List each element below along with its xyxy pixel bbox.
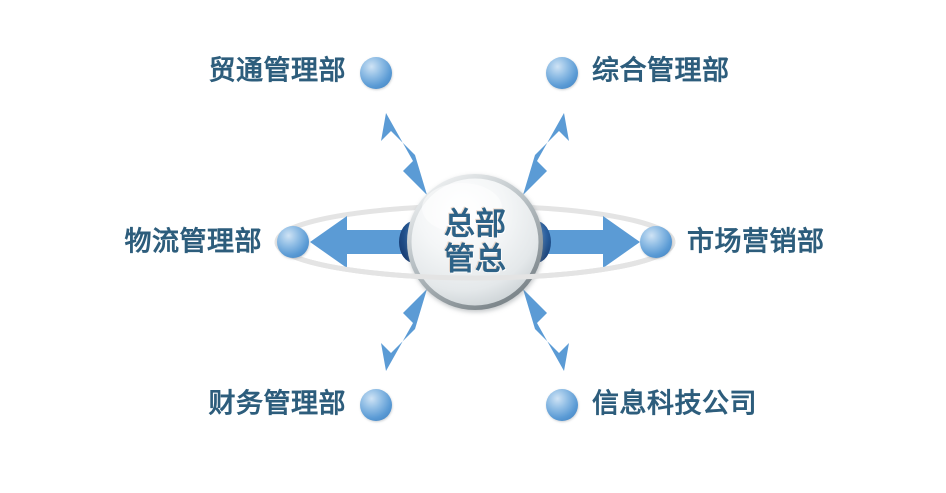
node-sphere-zonghe[interactable] xyxy=(546,57,578,89)
node-label-zonghe[interactable]: 综合管理部 xyxy=(592,58,730,85)
diagram-canvas: 总部 管总 贸通管理部 综合管理部 物流管理部 市场营销部 财务管理部 信息科技… xyxy=(0,0,946,493)
arrow-down-right xyxy=(523,289,569,371)
node-label-wuliu[interactable]: 物流管理部 xyxy=(125,229,263,256)
node-label-xinxi[interactable]: 信息科技公司 xyxy=(592,391,757,418)
node-sphere-caiwu[interactable] xyxy=(360,389,392,421)
node-label-shichang[interactable]: 市场营销部 xyxy=(687,229,825,256)
center-hub-label: 总部 管总 xyxy=(444,207,506,276)
center-hub-label-line2: 管总 xyxy=(444,242,506,277)
node-label-caiwu[interactable]: 财务管理部 xyxy=(209,391,347,418)
node-label-maotong[interactable]: 贸通管理部 xyxy=(209,58,347,85)
node-sphere-shichang[interactable] xyxy=(640,226,672,258)
node-sphere-xinxi[interactable] xyxy=(546,389,578,421)
arrow-down-left xyxy=(381,289,427,371)
node-sphere-wuliu[interactable] xyxy=(277,226,309,258)
arrow-up-right xyxy=(523,113,569,195)
center-hub-label-line1: 总部 xyxy=(444,207,506,242)
arrow-up-left xyxy=(381,113,427,195)
node-sphere-maotong[interactable] xyxy=(360,57,392,89)
